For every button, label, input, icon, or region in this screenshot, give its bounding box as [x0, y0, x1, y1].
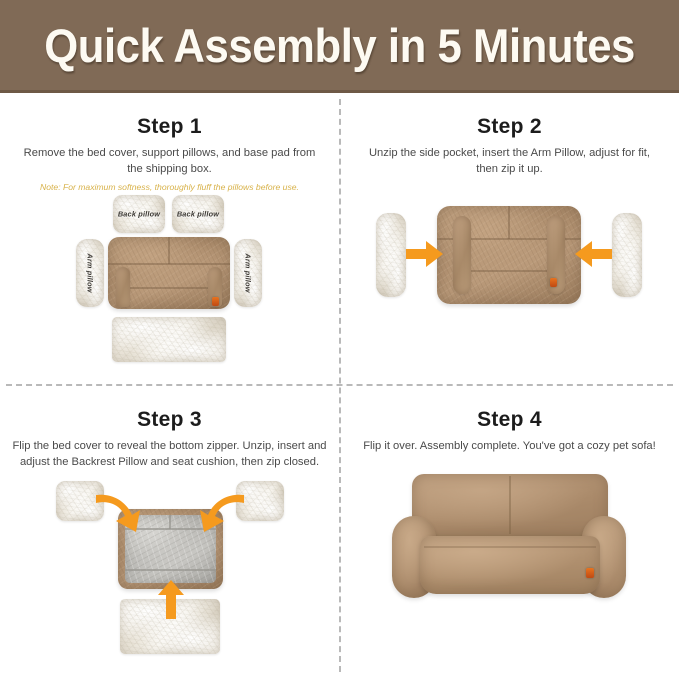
- insert-arrow-topright-icon: [194, 487, 248, 535]
- base-pad-bag: [112, 317, 226, 362]
- page-title: Quick Assembly in 5 Minutes: [44, 18, 635, 73]
- brand-tag: [586, 568, 594, 578]
- steps-grid: Step 1 Remove the bed cover, support pil…: [0, 93, 679, 678]
- arm-pillow-bag-right: [612, 213, 642, 297]
- back-pillow-bag-left: Back pillow: [113, 195, 165, 233]
- bed-cover: [108, 237, 230, 309]
- step-4-description: Flip it over. Assembly complete. You've …: [360, 439, 658, 455]
- step-panel-1: Step 1 Remove the bed cover, support pil…: [0, 93, 339, 385]
- back-pillow-left-label: Back pillow: [113, 210, 165, 219]
- arm-pillow-right-label: Arm pillow: [244, 253, 253, 292]
- assembled-pet-sofa: [392, 474, 626, 604]
- step-panel-2: Step 2 Unzip the side pocket, insert the…: [340, 93, 679, 385]
- step-1-description: Remove the bed cover, support pillows, a…: [20, 146, 318, 178]
- arm-pillow-left-label: Arm pillow: [86, 253, 95, 292]
- arm-pillow-bag-right: Arm pillow: [234, 239, 262, 307]
- step-2-illustration: [340, 201, 679, 331]
- step-4-heading: Step 4: [340, 386, 679, 432]
- step-1-note: Note: For maximum softness, thoroughly f…: [34, 182, 305, 194]
- insert-arrow-right-icon: [574, 239, 612, 269]
- step-1-illustration: Back pillow Back pillow Arm pillow Arm p…: [0, 193, 339, 378]
- step-1-heading: Step 1: [0, 93, 339, 139]
- arm-pillow-bag-left: Arm pillow: [76, 239, 104, 307]
- back-pillow-bag-right: Back pillow: [172, 195, 224, 233]
- insert-arrow-topleft-icon: [92, 487, 146, 535]
- insert-arrow-left-icon: [406, 239, 444, 269]
- step-2-description: Unzip the side pocket, insert the Arm Pi…: [360, 146, 658, 178]
- infographic-page: Quick Assembly in 5 Minutes Step 1 Remov…: [0, 0, 679, 678]
- header-banner: Quick Assembly in 5 Minutes: [0, 0, 679, 93]
- insert-arrow-bottom-icon: [156, 579, 186, 619]
- step-3-heading: Step 3: [0, 386, 339, 432]
- step-panel-4: Step 4 Flip it over. Assembly complete. …: [340, 386, 679, 678]
- bed-cover: [437, 206, 581, 304]
- step-2-heading: Step 2: [340, 93, 679, 139]
- step-4-illustration: [340, 474, 679, 624]
- step-3-description: Flip the bed cover to reveal the bottom …: [10, 439, 329, 471]
- step-panel-3: Step 3 Flip the bed cover to reveal the …: [0, 386, 339, 678]
- back-pillow-right-label: Back pillow: [172, 210, 224, 219]
- step-3-illustration: [0, 481, 339, 656]
- arm-pillow-bag-left: [376, 213, 406, 297]
